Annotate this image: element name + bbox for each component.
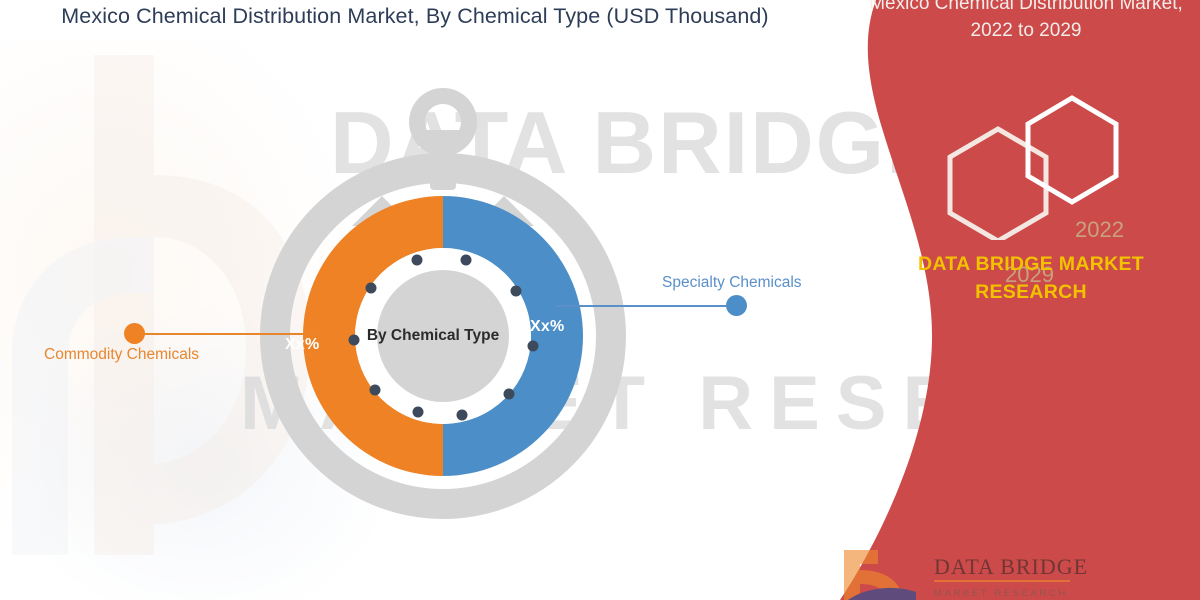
slice-value-specialty-chemicals: Xx% xyxy=(530,318,564,336)
page-title: Mexico Chemical Distribution Market, By … xyxy=(0,4,830,29)
brand-line-1: DATA BRIDGE MARKET xyxy=(862,250,1200,278)
logo-underline xyxy=(934,580,1070,582)
slice-value-commodity-chemicals: Xx% xyxy=(285,336,319,354)
hexagon-label-2022: 2022 xyxy=(1075,217,1124,243)
data-bridge-logo: DATA BRIDGE MARKET RESEARCH xyxy=(838,548,1088,600)
legend-dot-commodity-chemicals[interactable] xyxy=(124,323,145,344)
red-panel-heading: Mexico Chemical Distribution Market, 202… xyxy=(852,0,1200,44)
hexagon-2022 xyxy=(1028,98,1116,202)
brand-line-2: RESEARCH xyxy=(862,278,1200,306)
logo-text-line2: MARKET RESEARCH xyxy=(934,588,1068,599)
logo-text-line1: DATA BRIDGE xyxy=(934,554,1088,579)
hexagon-group: 2022 2029 xyxy=(912,95,1162,240)
donut-center-label: By Chemical Type xyxy=(333,327,533,345)
hexagon-outlines-icon xyxy=(912,95,1162,240)
red-panel-content: Mexico Chemical Distribution Market, 202… xyxy=(862,0,1200,600)
infographic-canvas: DATA BRIDGE MARKET RESEARCH Mexico Chemi… xyxy=(0,0,1200,600)
hexagon-2029 xyxy=(950,129,1046,240)
legend-label-specialty-chemicals[interactable]: Specialty Chemicals xyxy=(662,274,802,292)
legend-dot-specialty-chemicals[interactable] xyxy=(726,295,747,316)
logo-bridge-b-icon xyxy=(844,550,916,600)
donut-chart xyxy=(258,78,628,528)
brand-wordmark: DATA BRIDGE MARKET RESEARCH xyxy=(862,250,1200,306)
legend-label-commodity-chemicals[interactable]: Commodity Chemicals xyxy=(44,346,199,364)
